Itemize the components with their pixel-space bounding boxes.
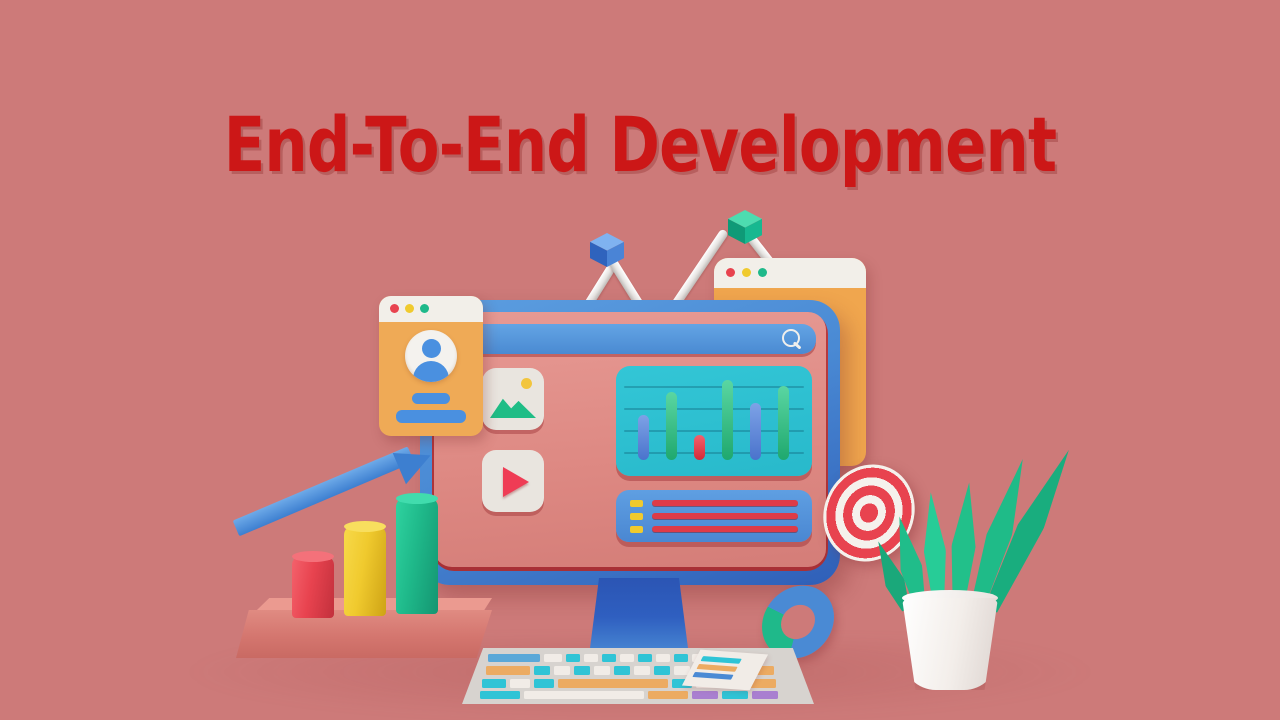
- pie-chart-yellow-icon: [549, 461, 569, 481]
- list-bullet: [630, 513, 643, 520]
- window-titlebar: [714, 258, 866, 288]
- monitor-stand: [589, 578, 689, 656]
- list-bullet: [630, 526, 643, 533]
- list-bullet: [630, 500, 643, 507]
- profile-card-titlebar: [379, 296, 483, 322]
- traffic-light-minimize-icon[interactable]: [742, 268, 751, 277]
- chart-base: [236, 610, 492, 658]
- pie-chart-yellow-icon: [549, 402, 569, 422]
- list-row-line: [652, 513, 798, 519]
- chart-bar: [638, 415, 649, 460]
- play-triangle: [503, 467, 529, 497]
- profile-field-short: [412, 393, 450, 404]
- cylinder-bar-red: [292, 556, 334, 618]
- illustration-canvas: End-To-End Development: [0, 0, 1280, 720]
- traffic-light-maximize-icon[interactable]: [758, 268, 767, 277]
- tile-side-panel: [538, 371, 582, 429]
- screen-bar-chart: [616, 366, 812, 476]
- profile-card[interactable]: [379, 296, 483, 436]
- list-row-line: [652, 500, 798, 506]
- potted-plant: [880, 432, 1030, 690]
- cylinder-bar-yellow: [344, 526, 386, 616]
- node-cube-green: [728, 210, 762, 244]
- cylinder-bar-green: [396, 498, 438, 614]
- chart-bar: [666, 392, 677, 460]
- chart-bar: [750, 403, 761, 460]
- traffic-light-minimize-icon[interactable]: [405, 304, 414, 313]
- chart-bar: [778, 386, 789, 460]
- chart-bar: [694, 435, 705, 460]
- profile-field-long: [396, 410, 466, 423]
- mountain-shape: [490, 392, 536, 418]
- image-icon[interactable]: [482, 368, 544, 430]
- scene-3d-development: [0, 0, 1280, 720]
- traffic-light-close-icon[interactable]: [390, 304, 399, 313]
- sun-icon: [521, 378, 532, 389]
- floor-cylinder-chart: [236, 448, 506, 678]
- plant-pot: [902, 598, 998, 690]
- search-icon[interactable]: [782, 329, 802, 349]
- pie-chart-green-icon: [549, 379, 569, 399]
- node-cube-blue: [590, 233, 624, 267]
- growth-arrow: [233, 446, 415, 536]
- tile-side-panel: [538, 453, 582, 511]
- list-panel[interactable]: [616, 490, 812, 542]
- traffic-light-maximize-icon[interactable]: [420, 304, 429, 313]
- list-row-line: [652, 526, 798, 532]
- chart-bar: [722, 380, 733, 460]
- user-avatar-icon: [405, 330, 457, 382]
- traffic-light-close-icon[interactable]: [726, 268, 735, 277]
- search-input[interactable]: [444, 324, 816, 354]
- pie-chart-green-icon: [549, 484, 569, 504]
